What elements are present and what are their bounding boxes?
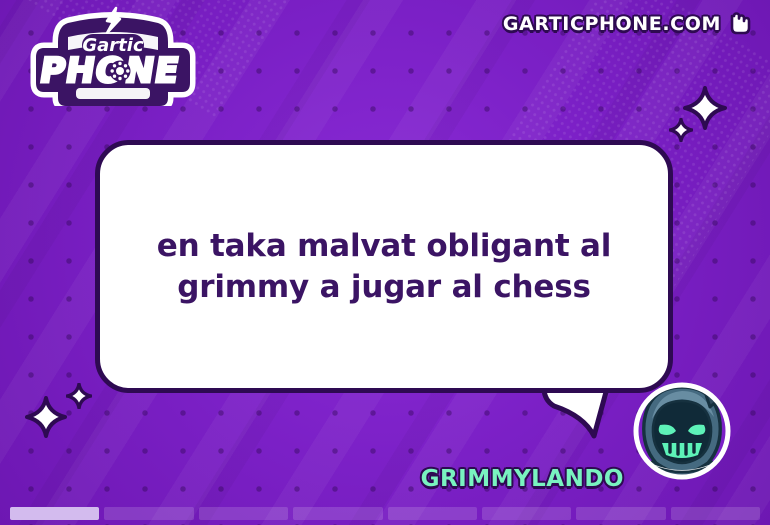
gartic-phone-album-screen: Gartic PHONE GARTICPHONE.COM	[0, 0, 770, 525]
site-url[interactable]: GARTICPHONE.COM	[503, 12, 752, 35]
album-progress-bar[interactable]	[0, 501, 770, 525]
hand-cursor-icon	[728, 12, 752, 35]
gartic-phone-logo[interactable]: Gartic PHONE	[28, 6, 198, 106]
progress-segment[interactable]	[671, 507, 760, 520]
progress-segment[interactable]	[104, 507, 193, 520]
speech-bubble: en taka malvat obligant al grimmy a juga…	[95, 140, 673, 393]
sparkle-bottom-left-large	[25, 396, 67, 438]
sparkle-bottom-left-small	[66, 383, 92, 409]
progress-segment[interactable]	[199, 507, 288, 520]
progress-segment[interactable]	[482, 507, 571, 520]
progress-segment[interactable]	[388, 507, 477, 520]
site-url-text: GARTICPHONE.COM	[503, 13, 721, 35]
progress-segment[interactable]	[293, 507, 382, 520]
sparkle-top-right-small	[669, 118, 693, 142]
player-username: GRIMMYLANDO	[421, 466, 624, 492]
speech-bubble-text: en taka malvat obligant al grimmy a juga…	[100, 226, 668, 308]
progress-segment[interactable]	[576, 507, 665, 520]
progress-segment[interactable]	[10, 507, 99, 520]
grim-reaper-avatar[interactable]	[632, 381, 732, 481]
